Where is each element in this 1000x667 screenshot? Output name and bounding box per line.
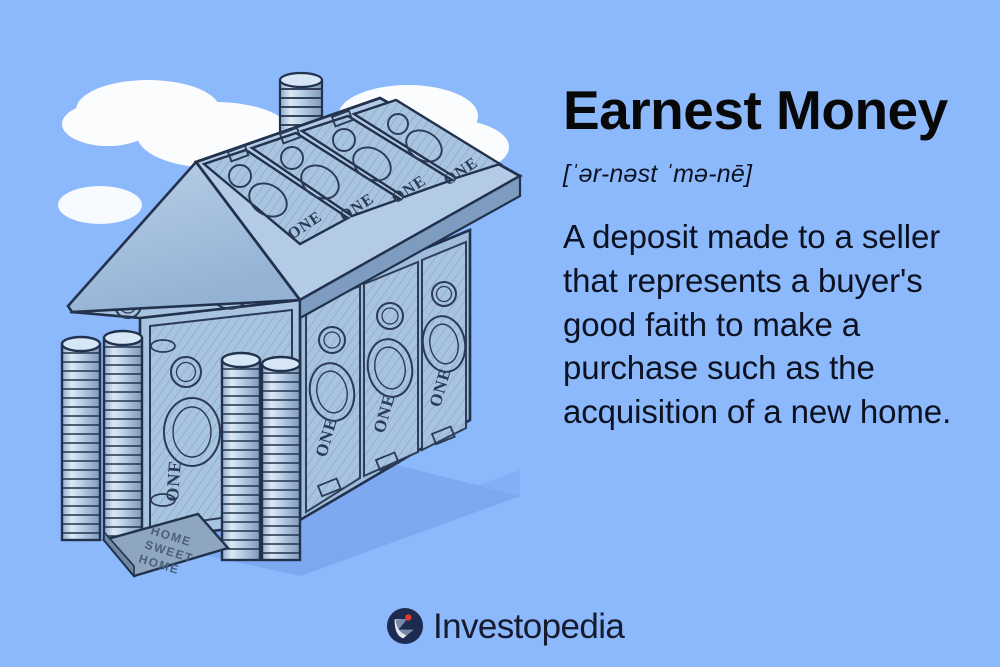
coin-pillar-3 (222, 353, 260, 560)
svg-text:ONE: ONE (162, 459, 185, 502)
coin-pillar-1 (62, 337, 100, 540)
coin-pillar-4 (262, 357, 300, 560)
money-house-illustration: ONE ONE ONE (0, 0, 540, 600)
brand-wordmark: Investopedia (433, 609, 624, 644)
pronunciation-text: [ˈər-nəst ˈmə-nē] (563, 160, 973, 189)
investopedia-mark-icon (386, 607, 424, 645)
page-title: Earnest Money (563, 82, 973, 140)
definition-card: ONE ONE ONE (0, 0, 1000, 667)
term-text-block: Earnest Money [ˈər-nəst ˈmə-nē] A deposi… (563, 82, 973, 434)
definition-text: A deposit made to a seller that represen… (563, 215, 973, 434)
coin-pillar-2 (104, 331, 142, 540)
investopedia-logo[interactable]: Investopedia (386, 607, 624, 645)
